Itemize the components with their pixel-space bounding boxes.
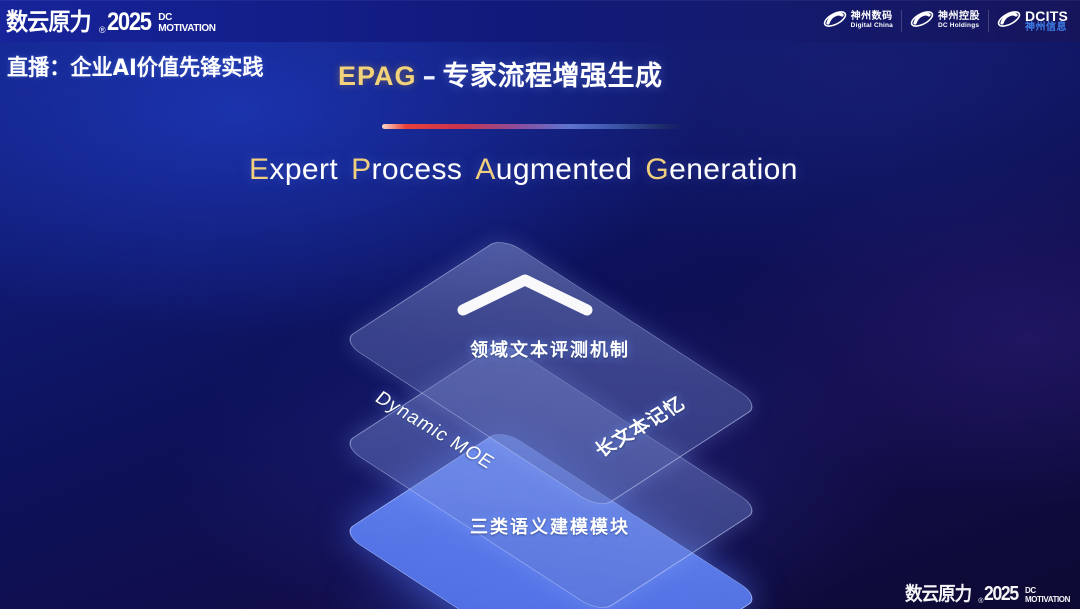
partner-logo-group: 神州数码 Digital China 神州控股 DC Holdings <box>814 4 1076 38</box>
brand-year: 2025 <box>107 9 151 35</box>
layered-architecture-diagram: 领域文本评测机制 Dynamic MOE 长文本记忆 三类语义建模模块 <box>300 228 800 598</box>
partner-logo-dc-holdings: 神州控股 DC Holdings <box>901 6 988 36</box>
partner-name-cn: 神州信息 <box>1025 23 1068 34</box>
partner-name-en: DCITS <box>1025 9 1068 23</box>
partner-name-en: Digital China <box>851 23 893 30</box>
subtitle-initial: E <box>249 153 269 186</box>
subtitle-remainder: eneration <box>669 153 798 186</box>
brand-dc-label: DC <box>158 13 215 23</box>
brand-logo: 数云原力 ® 2025 DC MOTIVATION <box>6 1 216 35</box>
partner-label: 神州数码 Digital China <box>851 12 893 30</box>
page-subtitle: ExpertProcessAugmentedGeneration <box>249 153 811 187</box>
swirl-icon <box>996 8 1022 35</box>
watermark-brand-cn: 数云原力 <box>905 584 971 605</box>
diagram-label-top: 领域文本评测机制 <box>300 336 800 362</box>
live-stream-title: 直播：企业AI价值先锋实践 <box>7 50 264 82</box>
subtitle-initial: P <box>351 153 371 186</box>
partner-name-cn: 神州控股 <box>938 12 980 23</box>
subtitle-word-expert: Expert <box>249 153 338 186</box>
subtitle-word-process: Process <box>351 153 462 186</box>
subtitle-initial: A <box>475 153 495 186</box>
watermark-brand-year: 2025 <box>984 584 1018 605</box>
page-title: EPAG–专家流程增强生成 <box>338 54 663 93</box>
page-title-separator: – <box>423 61 437 92</box>
brand-name-cn: 数云原力 <box>6 9 91 35</box>
partner-name-en: DC Holdings <box>938 23 980 30</box>
partner-logo-dcits: DCITS 神州信息 <box>988 6 1076 36</box>
subtitle-word-generation: Generation <box>645 153 797 186</box>
swirl-icon <box>822 8 848 35</box>
registered-mark: ® <box>99 25 106 35</box>
partner-label: 神州控股 DC Holdings <box>938 12 980 30</box>
watermark-registered-mark: ® <box>978 598 983 605</box>
diagram-label-bottom: 三类语义建模模块 <box>300 513 800 539</box>
partner-name-cn: 神州数码 <box>851 12 893 23</box>
accent-divider <box>382 124 682 129</box>
watermark-motivation-label: MOTIVATION <box>1025 596 1070 604</box>
watermark-tagline: DC MOTIVATION <box>1025 587 1070 604</box>
header-bar: 数云原力 ® 2025 DC MOTIVATION 神州数码 Digital C… <box>0 0 1080 42</box>
footer-watermark-logo: 数云原力 ® 2025 DC MOTIVATION <box>905 584 1070 605</box>
slide-canvas: 数云原力 ® 2025 DC MOTIVATION 神州数码 Digital C… <box>0 0 1080 609</box>
brand-tagline: DC MOTIVATION <box>158 13 215 34</box>
swirl-icon <box>909 8 935 35</box>
partner-label: DCITS 神州信息 <box>1025 9 1068 34</box>
chevron-up-icon <box>455 270 595 318</box>
page-title-chinese: 专家流程增强生成 <box>443 61 663 92</box>
brand-motivation-label: MOTIVATION <box>158 24 215 34</box>
subtitle-remainder: ugmented <box>496 153 633 186</box>
subtitle-remainder: xpert <box>269 153 338 186</box>
subtitle-word-augmented: Augmented <box>475 153 632 186</box>
partner-logo-digital-china: 神州数码 Digital China <box>814 6 901 36</box>
subtitle-remainder: rocess <box>372 153 463 186</box>
page-title-acronym: EPAG <box>338 61 417 91</box>
watermark-dc-label: DC <box>1025 587 1070 595</box>
subtitle-initial: G <box>645 153 669 186</box>
